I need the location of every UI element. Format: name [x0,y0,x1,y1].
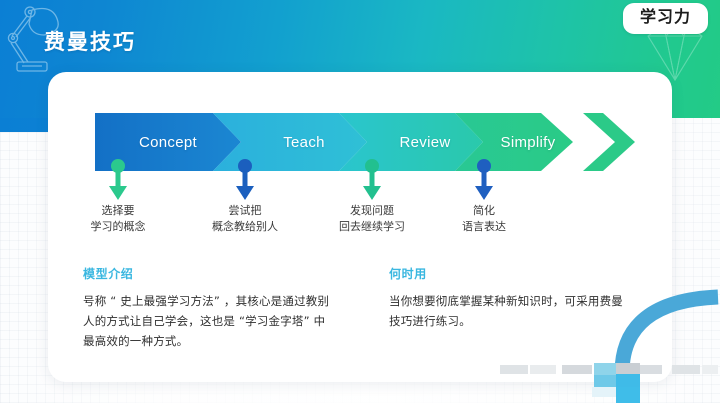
page-title: 费曼技巧 [44,26,136,56]
pin-arrow-3 [355,158,389,202]
pin-arrow-4 [467,158,501,202]
step-caption-4: 简化 语言表达 [424,203,544,235]
section-body: 当你想要彻底掌握某种新知识时，可采用费曼技巧进行练习。 [389,291,624,331]
blurred-watermark [500,357,720,403]
caption-line: 学习的概念 [58,219,178,235]
content-card: Concept Teach Review Simplify [48,72,672,382]
pin-arrow-2 [228,158,262,202]
process-step-label: Simplify [501,134,556,151]
section-heading: 模型介绍 [83,265,333,282]
learning-power-badge[interactable]: 学习力 [623,3,708,34]
section-body: 号称 “ 史上最强学习方法” ，其核心是通过教别人的方式让自己学会，这也是 “学… [83,291,333,351]
caption-line: 概念教给别人 [185,219,305,235]
process-step-label: Review [400,134,451,151]
section-heading: 何时用 [389,265,624,282]
section-when-to-use: 何时用 当你想要彻底掌握某种新知识时，可采用费曼技巧进行练习。 [389,265,624,331]
process-step-label: Concept [139,134,197,151]
caption-line: 选择要 [58,203,178,219]
caption-line: 尝试把 [185,203,305,219]
slide-canvas: 学习力 费曼技巧 [0,0,720,403]
step-caption-2: 尝试把 概念教给别人 [185,203,305,235]
step-caption-1: 选择要 学习的概念 [58,203,178,235]
process-step-label: Teach [283,134,325,151]
caption-line: 简化 [424,203,544,219]
step-caption-3: 发现问题 回去继续学习 [312,203,432,235]
badge-label: 学习力 [640,7,691,26]
caption-line: 发现问题 [312,203,432,219]
caption-line: 回去继续学习 [312,219,432,235]
caption-line: 语言表达 [424,219,544,235]
section-model-intro: 模型介绍 号称 “ 史上最强学习方法” ，其核心是通过教别人的方式让自己学会，这… [83,265,333,351]
pin-arrow-1 [101,158,135,202]
